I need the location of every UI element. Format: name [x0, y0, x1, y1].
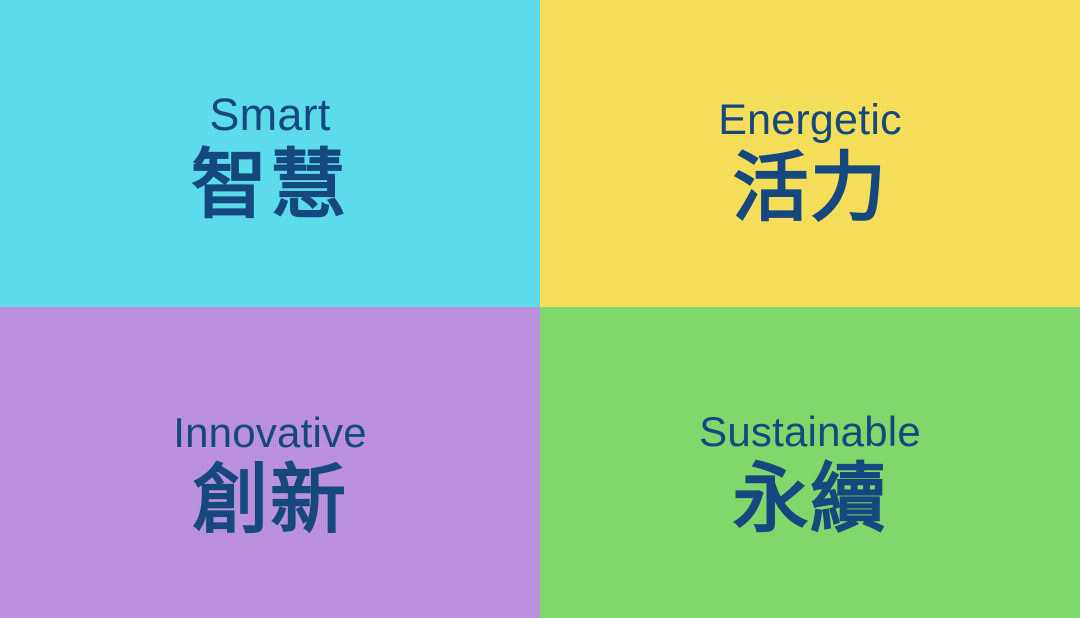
value-english-label-smart: Smart: [209, 92, 330, 137]
value-text-block-smart: Smart 智慧: [191, 92, 349, 223]
value-panel-sustainable[interactable]: Sustainable 永續: [540, 307, 1080, 618]
value-chinese-label-smart: 智慧: [191, 147, 349, 223]
value-text-block-innovative: Innovative 創新: [173, 412, 367, 538]
value-chinese-label-innovative: 創新: [192, 462, 347, 538]
value-chinese-label-energetic: 活力: [732, 150, 887, 226]
value-english-label-energetic: Energetic: [718, 99, 902, 142]
value-chinese-label-sustainable: 永續: [732, 461, 887, 537]
value-english-label-sustainable: Sustainable: [699, 411, 921, 453]
brand-values-grid: Smart 智慧 Energetic 活力 Innovative 創新 Sust…: [0, 0, 1080, 618]
value-text-block-energetic: Energetic 活力: [718, 99, 902, 226]
value-english-label-innovative: Innovative: [173, 412, 367, 454]
value-text-block-sustainable: Sustainable 永續: [699, 411, 921, 537]
value-panel-innovative[interactable]: Innovative 創新: [0, 307, 540, 618]
value-panel-smart[interactable]: Smart 智慧: [0, 0, 540, 307]
value-panel-energetic[interactable]: Energetic 活力: [540, 0, 1080, 307]
